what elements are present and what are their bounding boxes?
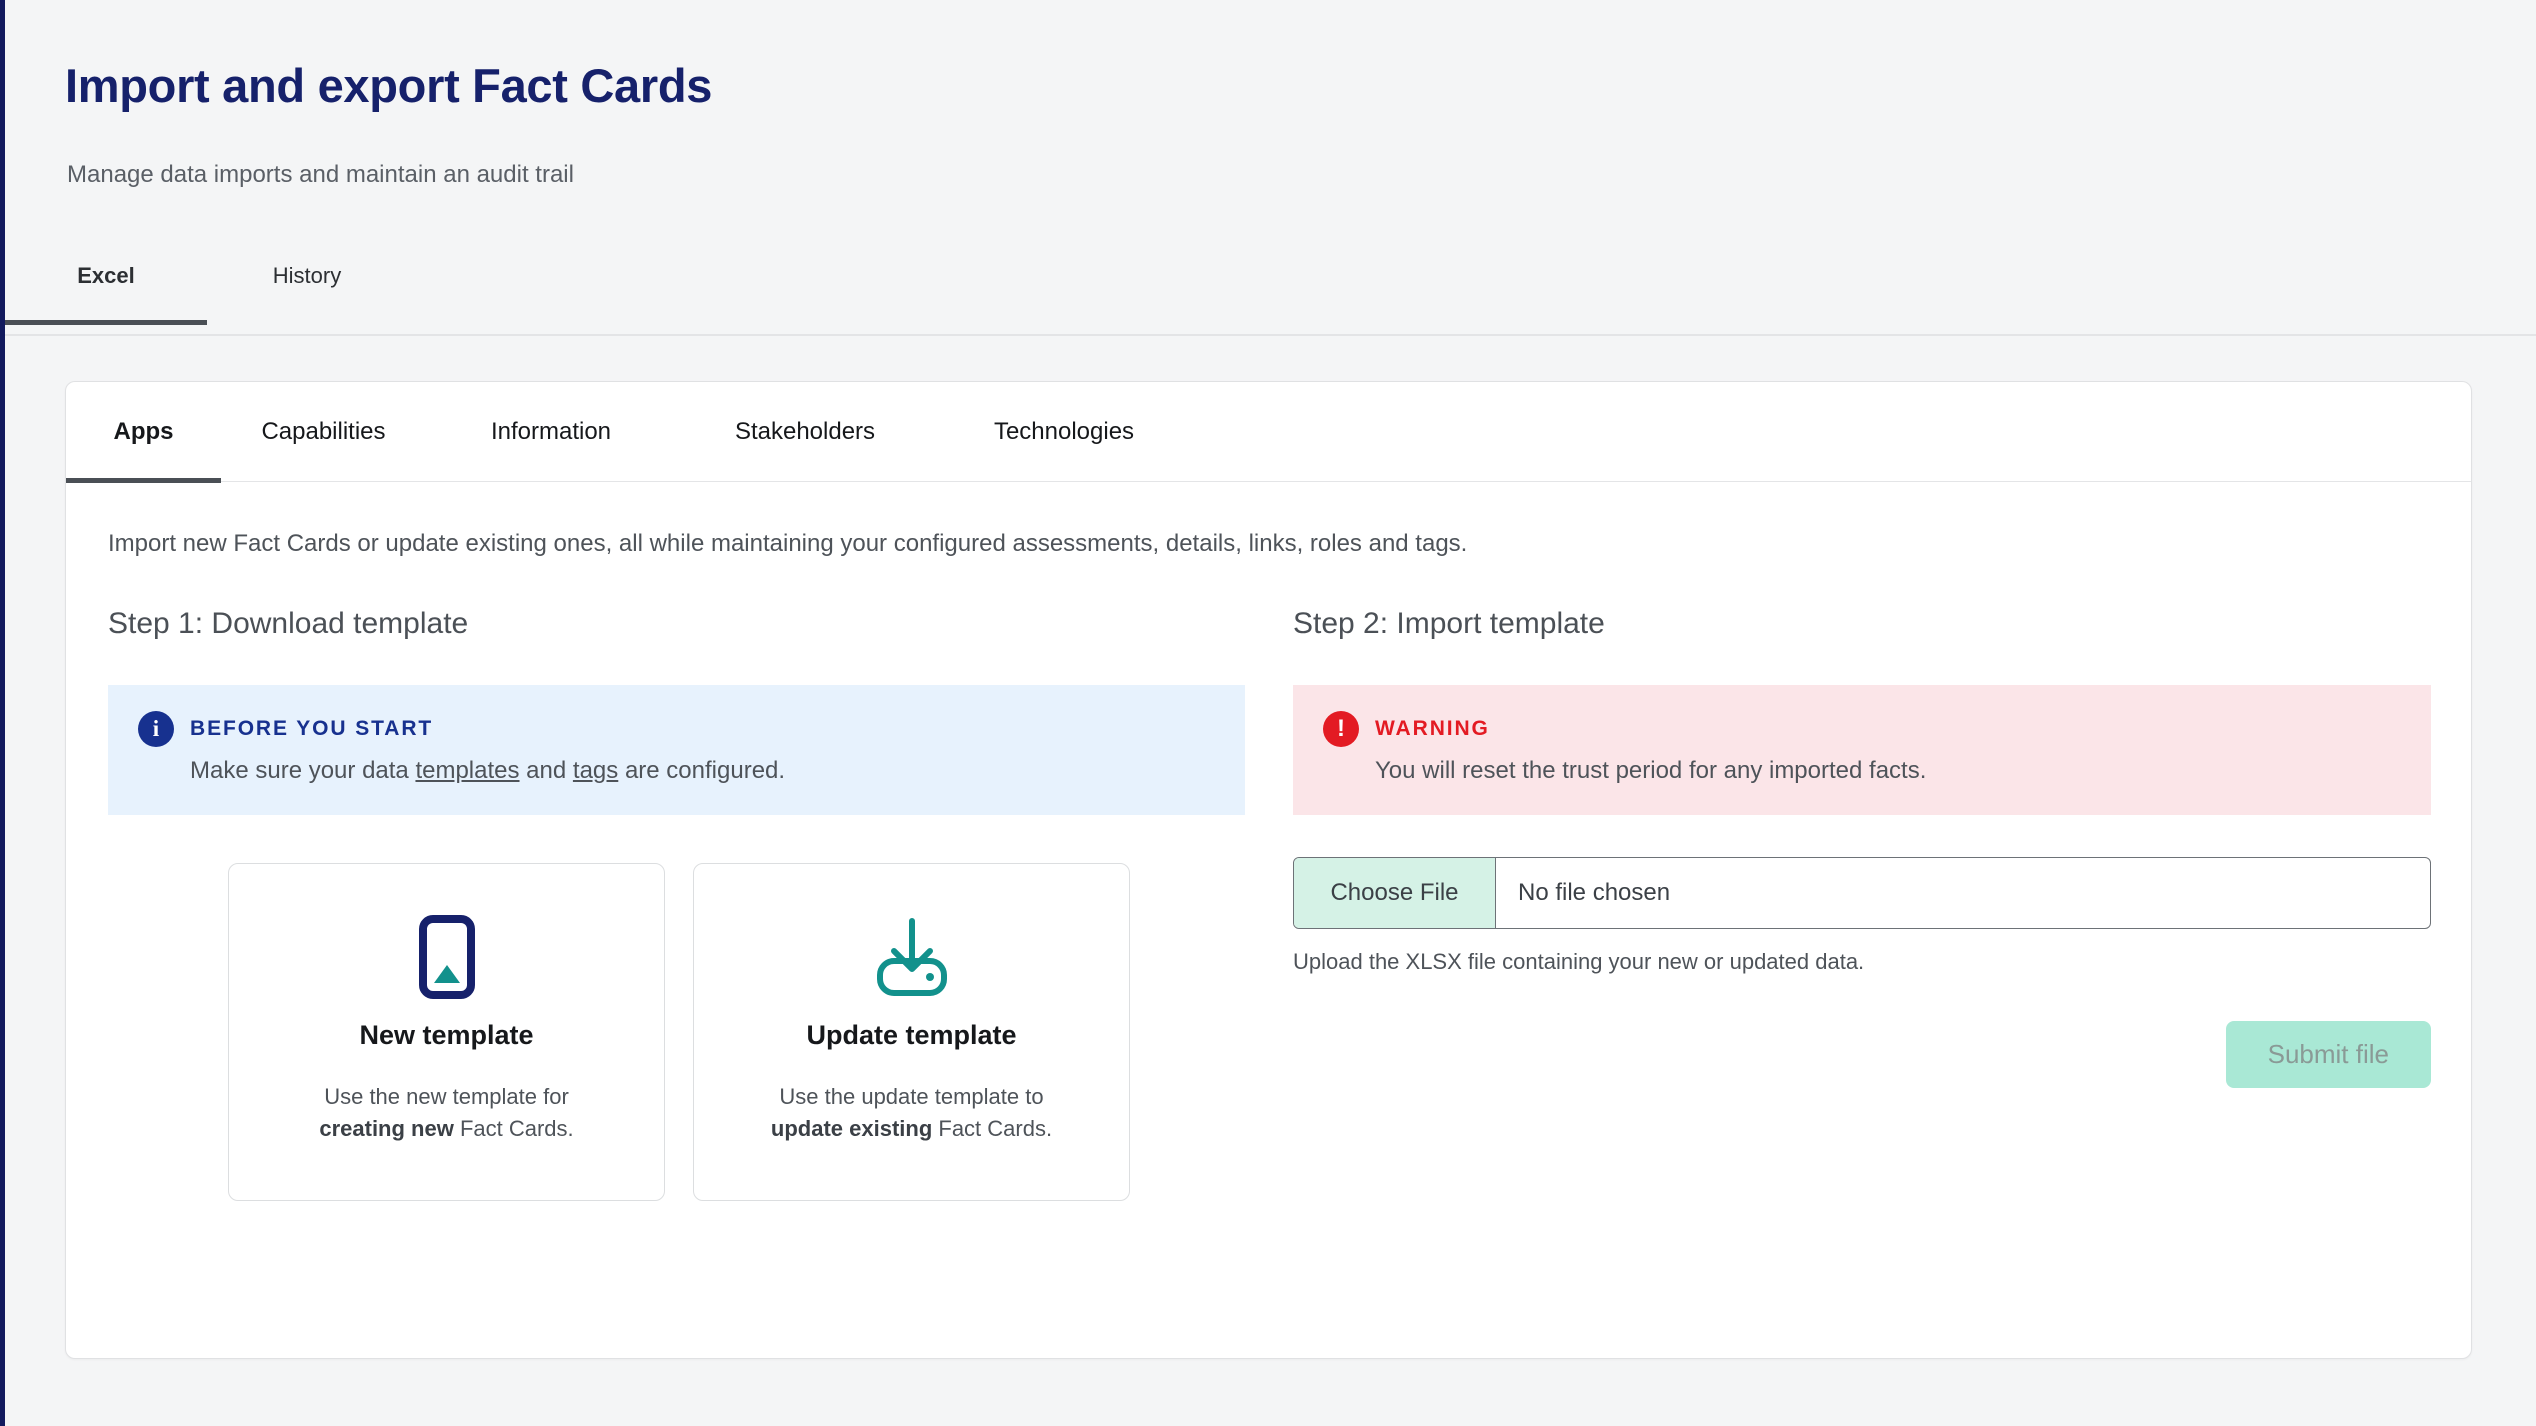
step-2-column: Step 2: Import template ! WARNING You wi… xyxy=(1293,607,2431,1201)
tile-title: New template xyxy=(359,1020,533,1051)
tab-technologies[interactable]: Technologies xyxy=(934,382,1194,482)
templates-link[interactable]: templates xyxy=(415,757,519,784)
tab-excel[interactable]: Excel xyxy=(5,255,207,325)
tile-desc-suffix: Fact Cards. xyxy=(454,1116,574,1141)
warning-alert: ! WARNING You will reset the trust perio… xyxy=(1293,685,2431,815)
tile-description: Use the update template to update existi… xyxy=(747,1081,1077,1145)
tab-history[interactable]: History xyxy=(207,255,407,325)
download-tray-icon xyxy=(868,912,956,1002)
submit-file-button[interactable]: Submit file xyxy=(2226,1021,2431,1088)
tab-information[interactable]: Information xyxy=(426,382,676,482)
alert-body: You will reset the trust period for any … xyxy=(1323,757,2401,785)
template-tiles: New template Use the new template for cr… xyxy=(108,863,1245,1201)
warning-circle-icon: ! xyxy=(1323,711,1359,747)
file-upload-input[interactable]: Choose File No file chosen xyxy=(1293,857,2431,929)
alert-header: ! WARNING xyxy=(1323,711,2401,747)
import-card: Apps Capabilities Information Stakeholde… xyxy=(65,381,2472,1359)
alert-text-suffix: are configured. xyxy=(618,757,785,784)
intro-text: Import new Fact Cards or update existing… xyxy=(108,530,1467,558)
before-you-start-alert: i BEFORE YOU START Make sure your data t… xyxy=(108,685,1245,815)
tab-capabilities[interactable]: Capabilities xyxy=(221,382,426,482)
tile-description: Use the new template for creating new Fa… xyxy=(282,1081,612,1145)
step-2-heading: Step 2: Import template xyxy=(1293,607,2431,641)
alert-title: BEFORE YOU START xyxy=(190,717,433,741)
file-upload-hint: Upload the XLSX file containing your new… xyxy=(1293,949,2431,975)
alert-body: Make sure your data templates and tags a… xyxy=(138,757,1215,785)
info-circle-icon: i xyxy=(138,711,174,747)
alert-text-mid: and xyxy=(520,757,573,784)
page-title: Import and export Fact Cards xyxy=(65,62,712,109)
tags-link[interactable]: tags xyxy=(573,757,618,784)
tile-desc-suffix: Fact Cards. xyxy=(932,1116,1052,1141)
alert-title: WARNING xyxy=(1375,717,1490,741)
update-template-tile[interactable]: Update template Use the update template … xyxy=(693,863,1130,1201)
new-template-tile[interactable]: New template Use the new template for cr… xyxy=(228,863,665,1201)
tile-desc-prefix: Use the update template to xyxy=(779,1084,1043,1109)
alert-header: i BEFORE YOU START xyxy=(138,711,1215,747)
left-edge-rail xyxy=(0,0,5,1426)
tile-desc-bold: creating new xyxy=(319,1116,453,1141)
step-1-column: Step 1: Download template i BEFORE YOU S… xyxy=(108,607,1245,1201)
entity-tab-bar: Apps Capabilities Information Stakeholde… xyxy=(66,382,2471,482)
step-1-heading: Step 1: Download template xyxy=(108,607,1245,641)
page-root: Import and export Fact Cards Manage data… xyxy=(0,0,2536,1426)
document-upload-icon xyxy=(419,912,475,1002)
tab-stakeholders[interactable]: Stakeholders xyxy=(676,382,934,482)
steps-columns: Step 1: Download template i BEFORE YOU S… xyxy=(108,607,2431,1201)
page-header: Import and export Fact Cards Manage data… xyxy=(5,0,2536,336)
tile-desc-bold: update existing xyxy=(771,1116,932,1141)
page-subtitle: Manage data imports and maintain an audi… xyxy=(67,163,574,187)
tile-desc-prefix: Use the new template for xyxy=(324,1084,569,1109)
submit-row: Submit file xyxy=(1293,1021,2431,1088)
chosen-file-name: No file chosen xyxy=(1496,858,2430,928)
alert-text-prefix: Make sure your data xyxy=(190,757,415,784)
outer-tab-bar: Excel History xyxy=(5,255,407,325)
tab-apps[interactable]: Apps xyxy=(66,382,221,482)
tile-title: Update template xyxy=(806,1020,1016,1051)
choose-file-button[interactable]: Choose File xyxy=(1294,858,1496,928)
